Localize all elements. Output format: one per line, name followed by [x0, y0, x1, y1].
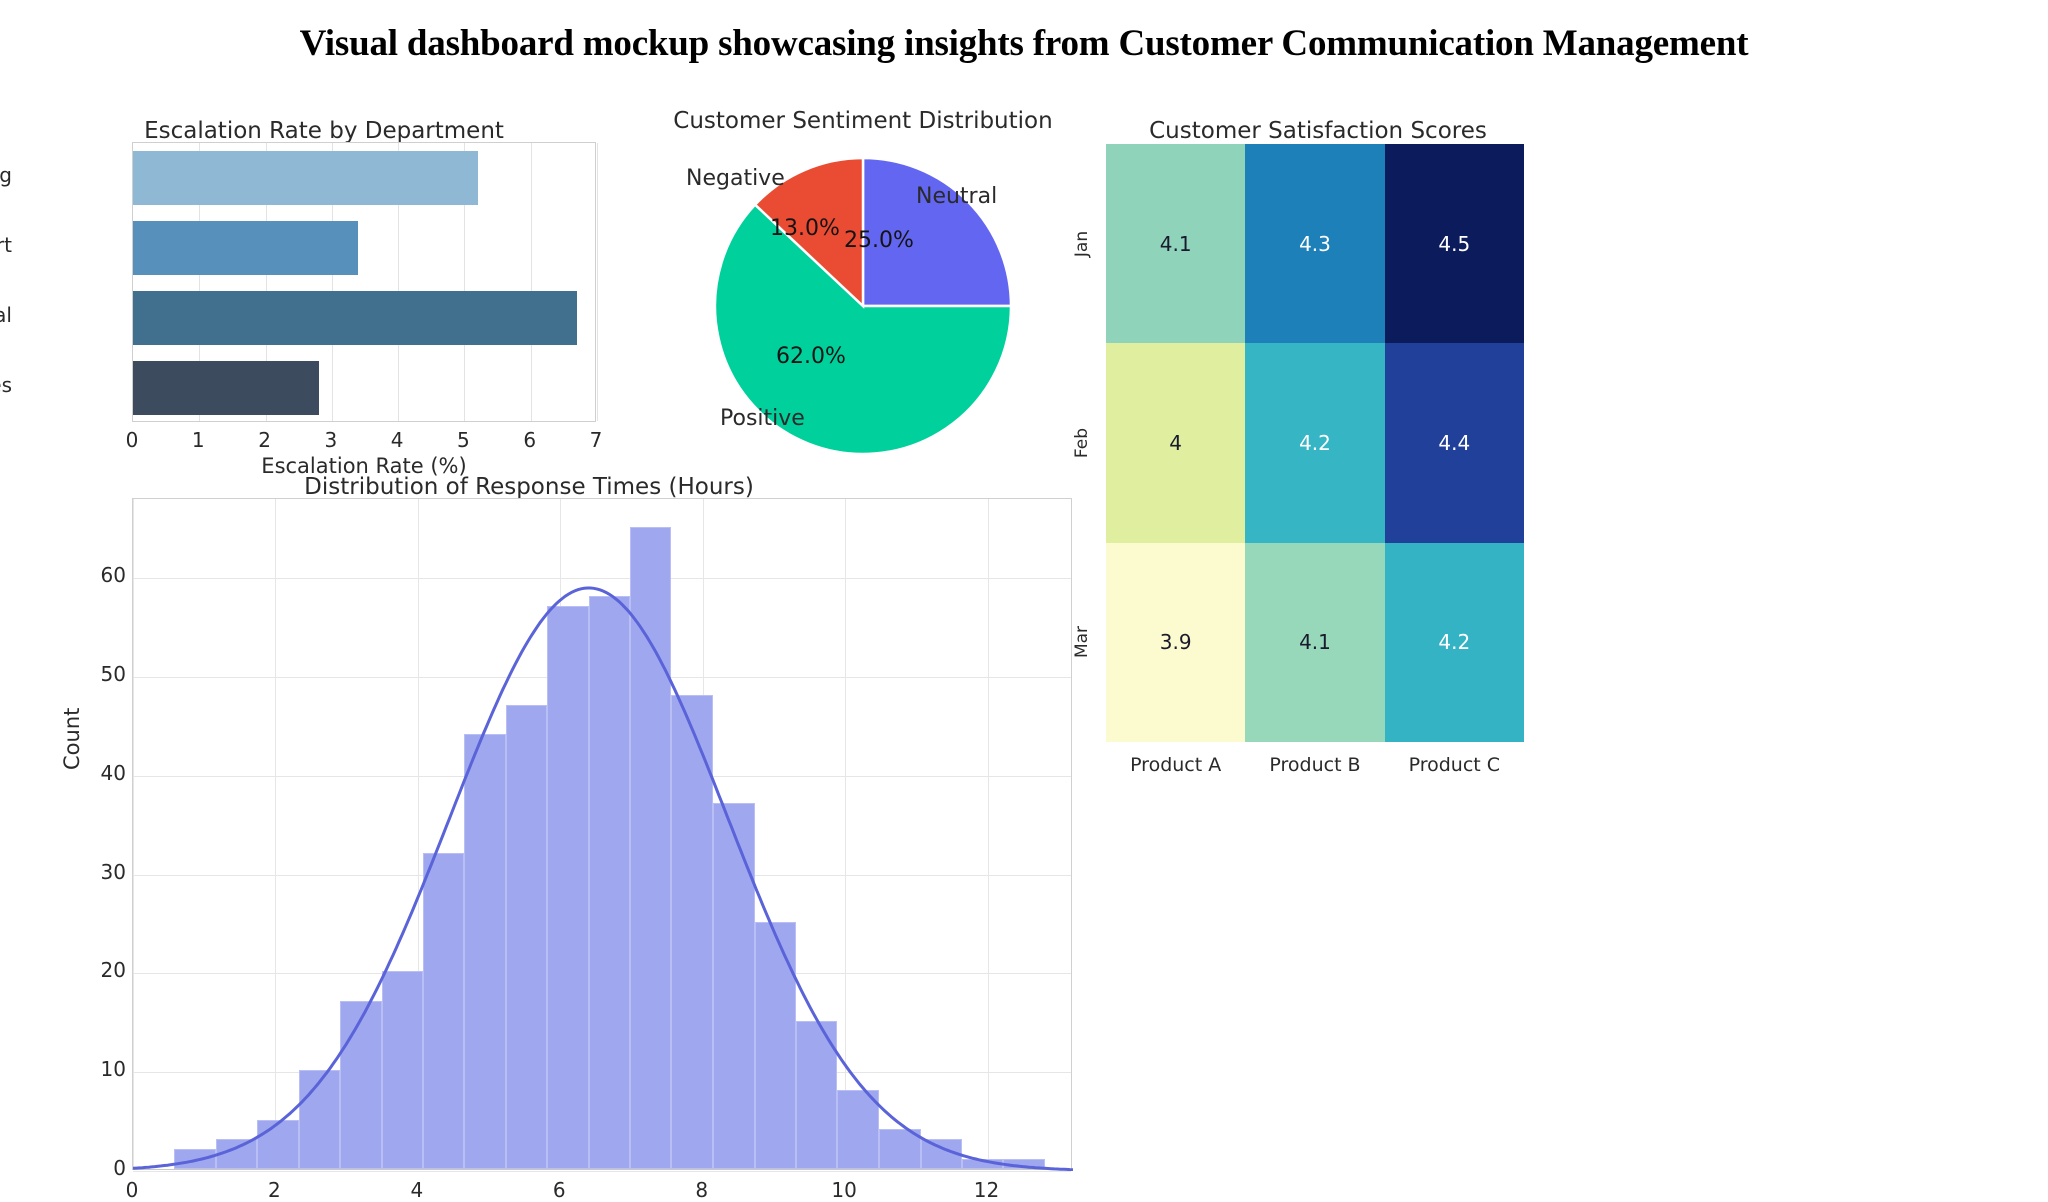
histogram-bar[interactable] — [216, 1139, 257, 1169]
histogram-xtick: 4 — [395, 1178, 439, 1202]
escalation-bar-row — [133, 221, 597, 274]
histogram-xtick: 2 — [252, 1178, 296, 1202]
escalation-bar-support[interactable] — [133, 221, 358, 274]
heatmap-col-label: Product C — [1385, 754, 1524, 776]
histogram-bar[interactable] — [796, 1021, 837, 1169]
heatmap-col-label: Product A — [1106, 754, 1245, 776]
histogram-yaxis-label: Count — [60, 708, 84, 770]
histogram-ytick: 10 — [56, 1057, 126, 1081]
pie-label-positive: Positive — [720, 406, 805, 431]
pie-pct-neutral: 25.0% — [844, 228, 914, 253]
histogram-bar[interactable] — [713, 803, 754, 1169]
escalation-bar-row — [133, 151, 597, 204]
histogram-xtick: 10 — [822, 1178, 866, 1202]
histogram-bar[interactable] — [879, 1129, 921, 1169]
histogram-bar[interactable] — [174, 1149, 215, 1169]
pie-pct-positive: 62.0% — [776, 344, 846, 369]
escalation-ylabel-sales: Sales — [0, 373, 12, 397]
escalation-bar-sales[interactable] — [133, 361, 319, 414]
escalation-bar-row — [133, 291, 597, 344]
dashboard-title: Visual dashboard mockup showcasing insig… — [0, 22, 2048, 65]
escalation-xtick: 6 — [510, 428, 550, 452]
heatmap-cell[interactable]: 4.1 — [1245, 543, 1384, 742]
satisfaction-heatmap: Customer Satisfaction Scores 4.14.34.544… — [1078, 112, 2028, 772]
histogram-gridline — [133, 1171, 1071, 1172]
heatmap-cell[interactable]: 4.4 — [1385, 343, 1524, 542]
heatmap-cell[interactable]: 4.5 — [1385, 144, 1524, 343]
heatmap-cell[interactable]: 4.1 — [1106, 144, 1245, 343]
escalation-plot-area — [132, 142, 596, 422]
escalation-xtick: 1 — [178, 428, 218, 452]
heatmap-cell[interactable]: 4.3 — [1245, 144, 1384, 343]
histogram-ytick: 30 — [56, 860, 126, 884]
heatmap-row-label-jan: Jan — [1072, 224, 1092, 264]
escalation-ylabel-billing: Billing — [0, 163, 12, 187]
histogram-bar[interactable] — [257, 1120, 299, 1169]
pie-label-neutral: Neutral — [916, 184, 997, 209]
escalation-chart-title: Escalation Rate by Department — [24, 118, 624, 144]
histogram-bar[interactable] — [630, 527, 671, 1169]
histogram-bar[interactable] — [382, 971, 423, 1169]
heatmap-cell[interactable]: 4.2 — [1245, 343, 1384, 542]
histogram-bar[interactable] — [464, 734, 506, 1169]
escalation-bar-row — [133, 361, 597, 414]
histogram-bar[interactable] — [837, 1090, 878, 1169]
histogram-ytick: 60 — [56, 563, 126, 587]
heatmap-title: Customer Satisfaction Scores — [1078, 118, 1558, 144]
histogram-ytick: 50 — [56, 662, 126, 686]
response-time-histogram: Distribution of Response Times (Hours) 0… — [24, 470, 1084, 1024]
histogram-xtick: 6 — [537, 1178, 581, 1202]
escalation-xtick: 0 — [112, 428, 152, 452]
histogram-xtick: 8 — [680, 1178, 724, 1202]
histogram-gridline — [133, 578, 1071, 579]
heatmap-cell[interactable]: 3.9 — [1106, 543, 1245, 742]
heatmap-cell[interactable]: 4.2 — [1385, 543, 1524, 742]
histogram-bar[interactable] — [506, 705, 547, 1169]
heatmap-row-label-feb: Feb — [1072, 423, 1092, 463]
escalation-xtick: 2 — [245, 428, 285, 452]
escalation-bar-technical[interactable] — [133, 291, 577, 344]
sentiment-pie-chart: Customer Sentiment Distribution Negative… — [648, 106, 1078, 466]
histogram-gridline — [988, 499, 989, 1169]
pie-pct-negative: 13.0% — [770, 216, 840, 241]
heatmap-cell[interactable]: 4 — [1106, 343, 1245, 542]
histogram-bar[interactable] — [340, 1001, 381, 1169]
escalation-xtick: 4 — [377, 428, 417, 452]
escalation-xtick: 7 — [576, 428, 616, 452]
histogram-xtick: 0 — [110, 1178, 154, 1202]
histogram-xtick: 12 — [965, 1178, 1009, 1202]
histogram-gridline — [845, 499, 846, 1169]
escalation-ylabel-support: Support — [0, 233, 12, 257]
histogram-bar[interactable] — [962, 1159, 1003, 1169]
histogram-bar[interactable] — [671, 695, 713, 1169]
histogram-bar[interactable] — [589, 596, 630, 1169]
histogram-bar[interactable] — [299, 1070, 340, 1169]
escalation-gridline — [597, 143, 598, 421]
escalation-xtick: 3 — [311, 428, 351, 452]
histogram-bar[interactable] — [547, 606, 588, 1169]
histogram-ytick: 0 — [56, 1156, 126, 1180]
escalation-ylabel-technical: Technical — [0, 303, 12, 327]
escalation-xtick: 5 — [443, 428, 483, 452]
pie-label-negative: Negative — [686, 166, 785, 191]
escalation-bar-billing[interactable] — [133, 151, 478, 204]
histogram-plot-area — [132, 498, 1072, 1170]
histogram-ytick: 20 — [56, 958, 126, 982]
heatmap-col-label: Product B — [1245, 754, 1384, 776]
histogram-bar[interactable] — [755, 922, 796, 1169]
histogram-gridline — [133, 499, 134, 1169]
heatmap-grid: 4.14.34.544.24.43.94.14.2 — [1106, 144, 1524, 742]
histogram-bar[interactable] — [423, 853, 464, 1169]
pie-chart-title: Customer Sentiment Distribution — [648, 108, 1078, 134]
histogram-title: Distribution of Response Times (Hours) — [24, 474, 1034, 500]
histogram-bar[interactable] — [1003, 1159, 1044, 1169]
histogram-gridline — [275, 499, 276, 1169]
histogram-bar[interactable] — [921, 1139, 962, 1169]
escalation-rate-chart: Escalation Rate by Department BillingSup… — [24, 112, 624, 472]
